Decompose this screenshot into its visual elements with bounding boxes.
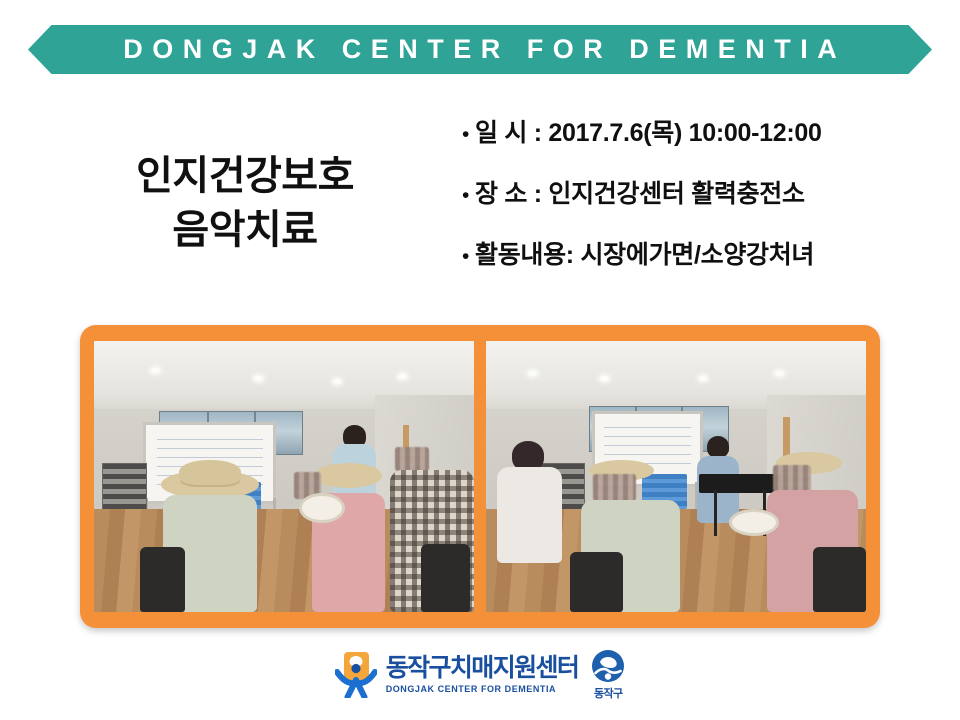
person-participant-white — [497, 441, 562, 563]
district-emblem: 동작구 — [591, 649, 625, 701]
tambourine — [729, 509, 778, 536]
center-name-korean: 동작구치매지원센터 — [386, 656, 579, 681]
keyboard-stand — [714, 490, 717, 536]
center-name-english: DONGJAK CENTER FOR DEMENTIA — [386, 685, 556, 694]
banner-title: DONGJAK CENTER FOR DEMENTIA — [114, 36, 847, 63]
program-title-line-1: 인지건강보호 — [60, 150, 430, 204]
footer-logo-bar: 동작구치매지원센터 DONGJAK CENTER FOR DEMENTIA 동작… — [0, 645, 960, 705]
detail-text-datetime: 일 시 : 2017.7.6(목) 10:00-12:00 — [475, 118, 822, 148]
chair — [570, 552, 623, 612]
header-banner: DONGJAK CENTER FOR DEMENTIA — [28, 25, 932, 74]
ceiling-light — [528, 371, 537, 376]
ceiling-light — [254, 376, 263, 381]
chair — [813, 547, 866, 612]
banner-ribbon-shape: DONGJAK CENTER FOR DEMENTIA — [28, 25, 932, 74]
detail-row-activity: • 활동내용: 시장에가면/소양강처녀 — [462, 240, 932, 270]
ceiling-light — [775, 371, 784, 376]
detail-row-location: • 장 소 : 인지건강센터 활력충전소 — [462, 179, 932, 209]
photo-session-keyboard — [486, 341, 866, 612]
tambourine — [299, 493, 345, 523]
chair — [140, 547, 186, 612]
photo-1-scene — [94, 341, 474, 612]
ceiling-light — [398, 374, 407, 379]
photo-session-tambourine — [94, 341, 474, 612]
detail-text-location: 장 소 : 인지건강센터 활력충전소 — [475, 179, 805, 209]
program-details-list: • 일 시 : 2017.7.6(목) 10:00-12:00 • 장 소 : … — [462, 118, 932, 301]
center-logo-text: 동작구치매지원센터 DONGJAK CENTER FOR DEMENTIA — [386, 656, 579, 694]
program-title-line-2: 음악치료 — [60, 204, 430, 258]
bullet-icon: • — [462, 185, 475, 206]
center-logo-icon — [335, 652, 377, 698]
bullet-icon: • — [462, 124, 475, 145]
district-label: 동작구 — [594, 685, 623, 701]
person-participant-pink — [311, 463, 387, 612]
bullet-icon: • — [462, 246, 475, 267]
photo-gallery-frame — [80, 325, 880, 628]
chair — [421, 544, 470, 612]
photo-2-scene — [486, 341, 866, 612]
program-title: 인지건강보호 음악치료 — [60, 150, 430, 257]
detail-row-datetime: • 일 시 : 2017.7.6(목) 10:00-12:00 — [462, 118, 932, 148]
dongjak-district-icon — [591, 649, 625, 683]
detail-text-activity: 활동내용: 시장에가면/소양강처녀 — [475, 240, 814, 270]
